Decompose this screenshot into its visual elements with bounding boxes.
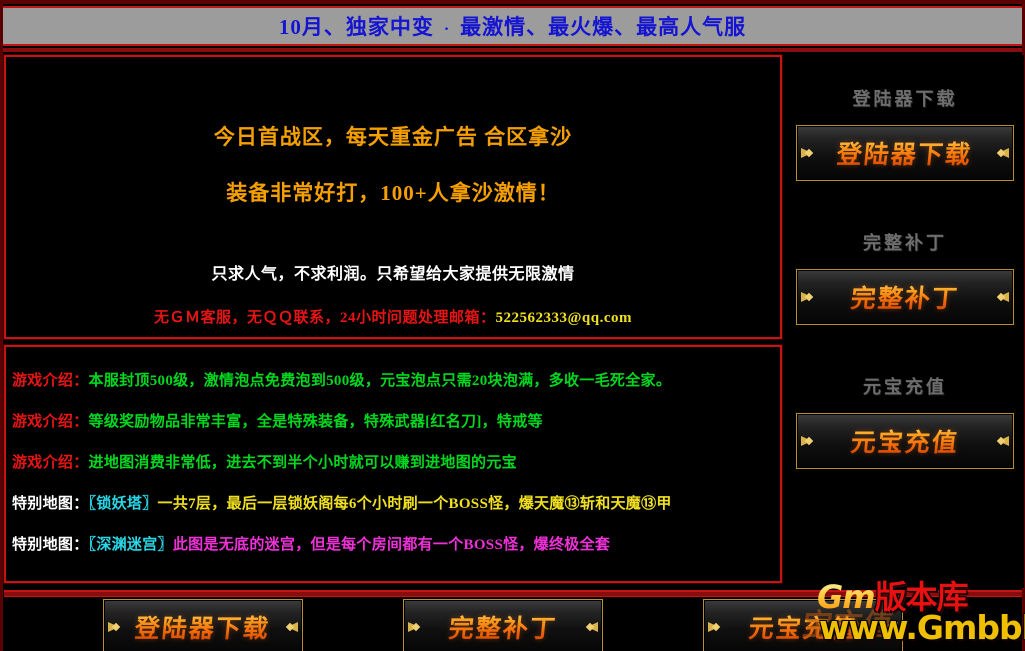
info-row: 特别地图：〖深渊迷宫〗此图是无底的迷宫，但是每个房间都有一个BOSS怪，爆终极全… — [12, 533, 772, 554]
bottom-button-label: 元宝充值 — [747, 609, 859, 645]
info-row: 特别地图：〖锁妖塔〗一共7层，最后一层锁妖阁每6个小时刷一个BOSS怪，爆天魔⑬… — [12, 492, 772, 513]
main-content-column: 今日首战区，每天重金广告 合区拿沙 装备非常好打，100+人拿沙激情！ 只求人气… — [4, 55, 782, 588]
info-row-list: 游戏介绍：本服封顶500级，激情泡点免费泡到500级，元宝泡点只需20块泡满，多… — [12, 369, 772, 554]
bottom-button-3[interactable]: 元宝充值 — [703, 599, 903, 651]
sidebar-label-recharge: 元宝充值 — [786, 373, 1024, 399]
bottom-button-bar: 登陆器下载完整补丁元宝充值 — [3, 599, 1022, 651]
sidebar-button-loader-download[interactable]: 登陆器下载 — [796, 125, 1014, 181]
promo-line-2: 装备非常好打，100+人拿沙激情！ — [16, 177, 770, 207]
info-row-text: 一共7层，最后一层锁妖阁每6个小时刷一个BOSS怪，爆天魔⑬斩和天魔⑬甲 — [158, 496, 672, 512]
header-bar: 10月、独家中变·最激情、最火爆、最高人气服 — [3, 8, 1022, 44]
info-row-text: 进地图消费非常低，进去不到半个小时就可以赚到进地图的元宝 — [89, 455, 517, 471]
sidebar-block-recharge: 元宝充值 元宝充值 — [786, 373, 1024, 469]
sidebar-label-patch: 完整补丁 — [786, 229, 1024, 255]
info-row-label: 特别地图： — [12, 537, 89, 553]
bottom-button-2[interactable]: 完整补丁 — [403, 599, 603, 651]
sidebar-button-loader-label: 登陆器下载 — [836, 135, 975, 171]
info-row-text: 本服封顶500级，激情泡点免费泡到500级，元宝泡点只需20块泡满，多收一毛死全… — [89, 373, 672, 389]
header-title-left: 10月、独家中变 — [279, 15, 434, 39]
header-banner: 10月、独家中变·最激情、最火爆、最高人气服 — [3, 6, 1022, 46]
sidebar-block-patch: 完整补丁 完整补丁 — [786, 229, 1024, 325]
header-title-right: 最激情、最火爆、最高人气服 — [460, 15, 746, 39]
info-row: 游戏介绍：进地图消费非常低，进去不到半个小时就可以赚到进地图的元宝 — [12, 451, 772, 472]
sidebar-block-loader: 登陆器下载 登陆器下载 — [786, 85, 1024, 181]
bottom-button-slot: 登陆器下载 — [103, 599, 303, 651]
info-row-label: 特别地图： — [12, 496, 89, 512]
info-row: 游戏介绍：本服封顶500级，激情泡点免费泡到500级，元宝泡点只需20块泡满，多… — [12, 369, 772, 390]
page-root: 10月、独家中变·最激情、最火爆、最高人气服 今日首战区，每天重金广告 合区拿沙… — [0, 0, 1025, 651]
sidebar: 登陆器下载 登陆器下载 完整补丁 完整补丁 元宝充值 — [786, 55, 1024, 588]
info-row-map-tag: 〖深渊迷宫〗 — [89, 537, 173, 553]
info-row-label: 游戏介绍： — [12, 373, 89, 389]
bottom-button-slot: 元宝充值 — [703, 599, 903, 651]
sidebar-button-recharge-label: 元宝充值 — [849, 423, 961, 459]
promo-line-1: 今日首战区，每天重金广告 合区拿沙 — [16, 121, 770, 151]
bottom-button-label: 登陆器下载 — [134, 609, 273, 645]
header-underline — [3, 48, 1022, 52]
sidebar-button-patch-label: 完整补丁 — [849, 279, 961, 315]
info-row-text: 等级奖励物品非常丰富，全是特殊装备，特殊武器[红名刀]，特戒等 — [89, 414, 543, 430]
info-row-label: 游戏介绍： — [12, 455, 89, 471]
bottom-button-1[interactable]: 登陆器下载 — [103, 599, 303, 651]
info-row-label: 游戏介绍： — [12, 414, 89, 430]
page-title: 10月、独家中变·最激情、最火爆、最高人气服 — [279, 11, 746, 41]
promo-contact-line: 无ＧＭ客服，无ＱＱ联系，24小时问题处理邮箱：522562333@qq.com — [16, 306, 770, 327]
info-row: 游戏介绍：等级奖励物品非常丰富，全是特殊装备，特殊武器[红名刀]，特戒等 — [12, 410, 772, 431]
info-row-text: 此图是无底的迷宫，但是每个房间都有一个BOSS怪，爆终极全套 — [173, 537, 610, 553]
promo-panel: 今日首战区，每天重金广告 合区拿沙 装备非常好打，100+人拿沙激情！ 只求人气… — [4, 55, 782, 339]
sidebar-button-full-patch[interactable]: 完整补丁 — [796, 269, 1014, 325]
bottom-button-slot: 完整补丁 — [403, 599, 603, 651]
header-separator: · — [434, 21, 460, 38]
bottom-button-label: 完整补丁 — [447, 609, 559, 645]
info-row-map-tag: 〖锁妖塔〗 — [89, 496, 158, 512]
sidebar-button-yuanbao-recharge[interactable]: 元宝充值 — [796, 413, 1014, 469]
promo-line-3: 只求人气，不求利润。只希望给大家提供无限激情 — [16, 260, 770, 284]
contact-prefix: 无ＧＭ客服，无ＱＱ联系，24小时问题处理邮箱： — [154, 310, 496, 326]
sidebar-label-loader: 登陆器下载 — [786, 85, 1024, 111]
bottom-separator — [4, 590, 1022, 597]
info-panel: 游戏介绍：本服封顶500级，激情泡点免费泡到500级，元宝泡点只需20块泡满，多… — [4, 345, 782, 583]
contact-email: 522562333@qq.com — [495, 310, 632, 326]
